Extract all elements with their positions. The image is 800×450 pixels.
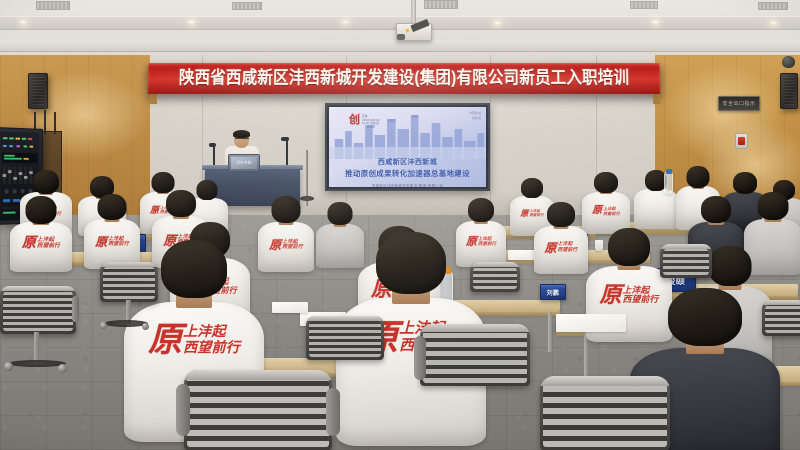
presenter-glasses-icon xyxy=(235,138,249,141)
name-placard-text: 刘鹏 xyxy=(547,288,560,297)
attendee: 原 上沣起 西望前行 xyxy=(534,202,588,270)
chair-slats xyxy=(663,248,709,275)
chair-slats xyxy=(3,290,73,331)
exit-sign: 安全出口指示 xyxy=(718,96,760,111)
tshirt-logo: 原 上沣起 西望前行 xyxy=(592,206,620,216)
presenter-laptop: 讲台电脑 xyxy=(228,154,260,172)
attendee: 原 上沣起 西望前行 xyxy=(10,196,72,266)
ceiling-projector xyxy=(396,23,432,41)
attendee-head xyxy=(26,196,57,224)
chair-headrest xyxy=(0,286,76,291)
microphone-head-icon xyxy=(281,137,289,141)
attendee-head xyxy=(161,240,227,298)
presentation-slide: 创 西咸 INNOVATION PLAN 创新港 沣西新城 创新港 xyxy=(329,107,486,187)
laptop-screen: 讲台电脑 xyxy=(231,157,257,169)
wall-speaker-right xyxy=(780,73,798,109)
tshirt-logo: 原 上沣起 西望前行 xyxy=(269,239,303,251)
office-chair[interactable] xyxy=(306,316,384,360)
microphone-head-icon xyxy=(209,143,216,147)
event-banner: 陕西省西咸新区沣西新城开发建设(集团)有限公司新员工入职培训 xyxy=(148,63,661,94)
slide-heading-line1: 西咸新区沣西新城 xyxy=(329,159,486,166)
chair-back[interactable] xyxy=(0,286,76,334)
ceiling-vent xyxy=(36,1,70,10)
attendee-head xyxy=(166,190,196,217)
bottle-cap xyxy=(666,169,672,174)
attendee-head xyxy=(98,194,127,220)
chair-back[interactable] xyxy=(306,316,384,360)
chair-back[interactable] xyxy=(100,262,158,302)
office-chair[interactable] xyxy=(660,244,712,278)
ceiling xyxy=(0,0,800,62)
water-bottle xyxy=(664,172,673,194)
ceiling-band xyxy=(0,40,800,52)
office-chair[interactable] xyxy=(100,262,158,302)
office-chair[interactable] xyxy=(470,262,520,292)
office-chair[interactable] xyxy=(540,376,670,450)
projector-lens-icon xyxy=(397,34,405,40)
attendee-head xyxy=(668,288,742,346)
chair-slats xyxy=(543,380,667,447)
chair-armrest xyxy=(72,296,79,322)
chair-caster xyxy=(4,362,13,371)
chair-headrest xyxy=(420,324,530,332)
chair-slats xyxy=(765,304,800,333)
attendee-head xyxy=(328,202,353,225)
slide-heading-line2: 推动原创成果转化加速器总基地建设 xyxy=(329,170,486,178)
tshirt-logo: 原 上沣起 西望前行 xyxy=(22,237,60,251)
chair-back[interactable] xyxy=(184,370,332,450)
attendee-torso xyxy=(634,189,678,229)
handout-paper xyxy=(272,302,308,313)
chair-back[interactable] xyxy=(470,262,520,292)
projector-mount-rod xyxy=(411,0,416,24)
training-room-photo: 安全出口指示 陕西省西咸新区沣西新城开发建设(集团)有限公司新员工入职培训 创 … xyxy=(0,0,800,450)
office-chair[interactable] xyxy=(420,324,530,386)
chair-caster xyxy=(142,323,149,330)
chair-headrest xyxy=(306,316,384,321)
ceiling-downlight xyxy=(494,21,501,25)
placard-strip xyxy=(541,285,565,288)
wall-speaker-left xyxy=(28,73,48,109)
chair-slats xyxy=(423,328,527,383)
office-chair[interactable] xyxy=(762,300,800,336)
attendee-head xyxy=(521,178,543,198)
ceiling-vent xyxy=(758,2,788,10)
presenter-hair xyxy=(233,130,250,138)
attendee-head xyxy=(709,246,752,286)
attendee-head xyxy=(547,202,575,227)
name-placard: 刘鹏 xyxy=(540,284,566,300)
event-banner-title: 陕西省西咸新区沣西新城开发建设(集团)有限公司新员工入职培训 xyxy=(179,70,630,87)
chair-back[interactable] xyxy=(762,300,800,336)
attendee-torso: 原 上沣起 西望前行 xyxy=(258,222,314,272)
chair-headrest xyxy=(184,370,332,380)
ceiling-downlight xyxy=(652,20,659,24)
ceiling-downlight xyxy=(188,20,195,24)
ceiling-vent xyxy=(424,0,458,9)
slide-skyline-illustration xyxy=(329,113,486,159)
security-camera-icon xyxy=(782,56,795,68)
chair-headrest xyxy=(100,262,158,267)
attendee-torso: 原 上沣起 西望前行 xyxy=(534,226,588,274)
attendee-head xyxy=(594,172,618,193)
chair-armrest xyxy=(176,384,190,436)
handout-paper xyxy=(556,314,626,332)
chair-slats xyxy=(103,266,155,299)
wireless-antenna xyxy=(54,112,56,134)
laptop-screen-label: 讲台电脑 xyxy=(236,161,252,166)
attendee: 原 上沣起 西望前行 xyxy=(582,172,630,232)
attendee-head xyxy=(468,198,494,222)
chair-headrest xyxy=(540,376,670,386)
slide-footer: 西咸新区沣西新城开发建设(集团)有限公司 xyxy=(329,183,486,187)
chair-slats xyxy=(309,320,381,357)
projector-status-led xyxy=(406,29,409,32)
exit-sign-label: 安全出口指示 xyxy=(722,100,755,107)
attendee-head xyxy=(33,170,59,194)
attendee-head xyxy=(376,232,446,294)
ceiling-vent xyxy=(232,2,262,10)
attendee-head xyxy=(758,192,789,220)
attendee: 原 上沣起 西望前行 xyxy=(258,196,314,268)
chair-armrest xyxy=(326,388,340,436)
tshirt-logo: 原 上沣起 西望前行 xyxy=(148,324,240,358)
chair-caster xyxy=(58,364,67,373)
chair-back[interactable] xyxy=(540,376,670,450)
tshirt-logo: 原 上沣起 西望前行 xyxy=(544,242,577,254)
chair-back[interactable] xyxy=(420,324,530,386)
attendee-head xyxy=(608,228,650,266)
chair-caster xyxy=(100,322,107,329)
projection-screen: 创 西咸 INNOVATION PLAN 创新港 沣西新城 创新港 xyxy=(325,103,490,191)
attendee-head xyxy=(272,196,301,223)
wireless-antenna xyxy=(44,110,46,134)
desk-leg xyxy=(548,312,552,352)
attendee-head xyxy=(687,166,710,188)
ceiling-downlight xyxy=(342,20,349,24)
fire-alarm-button[interactable] xyxy=(738,137,745,145)
office-chair[interactable] xyxy=(184,370,332,450)
fire-alarm-pull-station[interactable] xyxy=(735,133,748,149)
ceiling-downlight xyxy=(770,21,777,25)
attendee-head xyxy=(701,196,731,223)
attendee-head xyxy=(733,172,757,194)
chair-slats xyxy=(187,374,329,447)
ceiling-downlight xyxy=(20,20,27,24)
office-chair[interactable] xyxy=(0,286,76,334)
chair-headrest xyxy=(660,244,712,249)
chair-slats xyxy=(473,266,517,289)
chair-armrest xyxy=(414,336,426,380)
ceiling-vent xyxy=(630,1,658,9)
chair-back[interactable] xyxy=(660,244,712,278)
attendee-torso: 原 上沣起 西望前行 xyxy=(10,222,72,272)
chair-headrest xyxy=(470,262,520,267)
chair-headrest xyxy=(762,300,800,305)
